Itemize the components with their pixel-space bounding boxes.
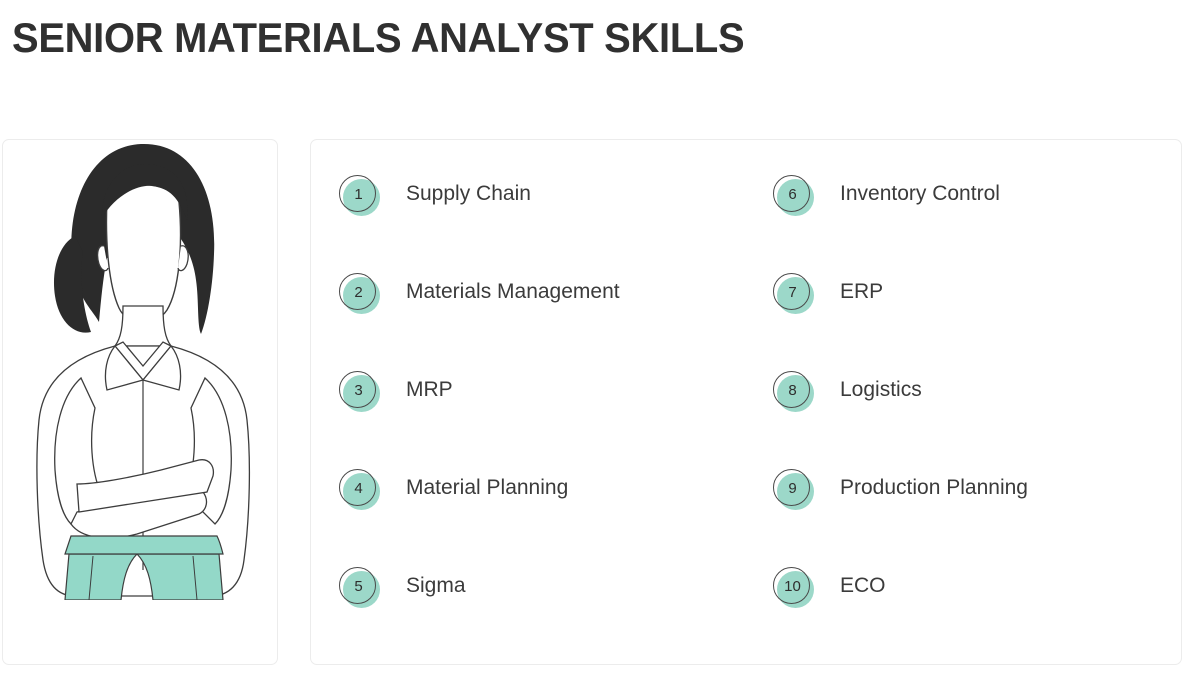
badge-number: 3	[339, 371, 378, 410]
skill-number-badge: 3	[339, 371, 380, 412]
face	[107, 184, 181, 322]
skill-number-badge: 1	[339, 175, 380, 216]
skill-number-badge: 7	[773, 273, 814, 314]
badge-number: 7	[773, 273, 812, 312]
badge-number: 1	[339, 175, 378, 214]
skills-column-left: 1 Supply Chain 2 Materials Management 3	[339, 174, 759, 664]
skill-label: Production Planning	[840, 475, 1028, 501]
badge-number: 6	[773, 175, 812, 214]
skill-item: 8 Logistics	[773, 370, 1193, 468]
badge-number: 8	[773, 371, 812, 410]
pants-waist	[65, 536, 223, 554]
badge-number: 4	[339, 469, 378, 508]
skill-number-badge: 6	[773, 175, 814, 216]
skill-item: 6 Inventory Control	[773, 174, 1193, 272]
skill-item: 4 Material Planning	[339, 468, 759, 566]
skill-item: 5 Sigma	[339, 566, 759, 664]
skills-column-right: 6 Inventory Control 7 ERP 8 Logistics	[773, 174, 1193, 664]
skill-label: MRP	[406, 377, 453, 403]
badge-number: 2	[339, 273, 378, 312]
skill-label: Inventory Control	[840, 181, 1000, 207]
skills-columns: 1 Supply Chain 2 Materials Management 3	[311, 140, 1181, 664]
skill-item: 2 Materials Management	[339, 272, 759, 370]
skill-label: Sigma	[406, 573, 466, 599]
skill-number-badge: 5	[339, 567, 380, 608]
skill-label: ECO	[840, 573, 886, 599]
skill-label: Materials Management	[406, 279, 620, 305]
skill-number-badge: 4	[339, 469, 380, 510]
skill-number-badge: 9	[773, 469, 814, 510]
woman-with-crossed-arms-illustration	[3, 140, 278, 600]
skills-card: 1 Supply Chain 2 Materials Management 3	[310, 139, 1182, 665]
skill-number-badge: 10	[773, 567, 814, 608]
skill-label: ERP	[840, 279, 883, 305]
illustration-card: ZIPPIA THE CAREER EXPERT	[2, 139, 278, 665]
skill-label: Supply Chain	[406, 181, 531, 207]
neck	[115, 306, 171, 346]
skill-label: Material Planning	[406, 475, 568, 501]
skill-number-badge: 8	[773, 371, 814, 412]
badge-number: 10	[773, 567, 812, 606]
skill-item: 7 ERP	[773, 272, 1193, 370]
skill-item: 1 Supply Chain	[339, 174, 759, 272]
badge-number: 9	[773, 469, 812, 508]
badge-number: 5	[339, 567, 378, 606]
skill-number-badge: 2	[339, 273, 380, 314]
skill-item: 3 MRP	[339, 370, 759, 468]
skill-item: 9 Production Planning	[773, 468, 1193, 566]
skill-item: 10 ECO	[773, 566, 1193, 664]
skill-label: Logistics	[840, 377, 922, 403]
page-title: SENIOR MATERIALS ANALYST SKILLS	[12, 14, 744, 62]
